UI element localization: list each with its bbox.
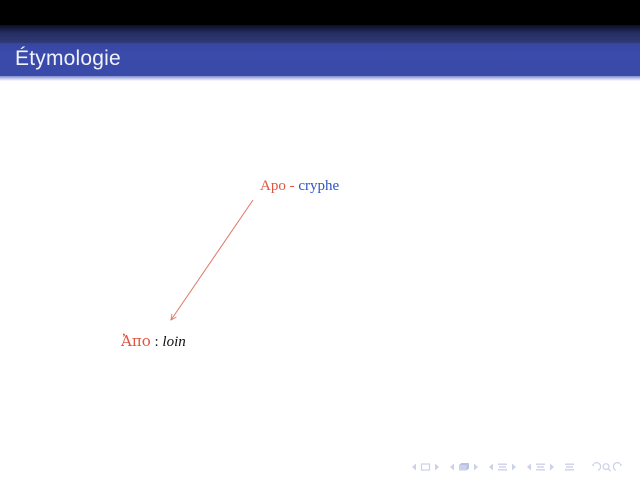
next-section-icon[interactable] — [547, 462, 556, 472]
slide-header-bar: Étymologie — [0, 0, 640, 80]
beamer-navigation-symbols[interactable] — [410, 458, 630, 476]
header-top-black-band — [0, 0, 640, 25]
nav-group-frame[interactable] — [448, 462, 480, 473]
previous-frame-icon[interactable] — [448, 462, 457, 472]
subsection-symbol-icon[interactable] — [496, 462, 509, 473]
next-slide-icon[interactable] — [432, 462, 441, 472]
presentation-symbol-icon[interactable] — [563, 462, 576, 473]
arrow-line — [171, 200, 253, 320]
nav-group-presentation[interactable] — [563, 462, 576, 473]
slide-body: Apo - cryphe Ἀπο : loin — [0, 81, 640, 451]
next-subsection-icon[interactable] — [509, 462, 518, 472]
nav-group-history[interactable] — [589, 462, 625, 473]
word-separator-dash: - — [286, 178, 299, 194]
back-symbol-icon[interactable] — [589, 462, 601, 473]
next-frame-icon[interactable] — [471, 462, 480, 472]
gloss-colon: : — [151, 334, 163, 350]
word-part-cryphe: cryphe — [298, 178, 339, 194]
forward-symbol-icon[interactable] — [613, 462, 625, 473]
slide-symbol-icon[interactable] — [419, 462, 432, 472]
greek-word-apo: Ἀπο — [121, 332, 151, 350]
frame-title: Étymologie — [15, 43, 121, 76]
word-part-apo: Apo — [260, 178, 286, 194]
etymology-arrow — [0, 81, 640, 451]
previous-section-icon[interactable] — [525, 462, 534, 472]
find-symbol-icon[interactable] — [601, 462, 613, 473]
header-dark-blue-band — [0, 25, 640, 43]
compound-word-apocryphe: Apo - cryphe — [260, 178, 339, 195]
presentation-slide: Étymologie Apo - cryphe Ἀπο : loin — [0, 0, 640, 480]
section-symbol-icon[interactable] — [534, 462, 547, 473]
nav-group-slide[interactable] — [410, 462, 441, 472]
nav-group-section[interactable] — [525, 462, 556, 473]
previous-subsection-icon[interactable] — [487, 462, 496, 472]
frame-symbol-icon[interactable] — [457, 462, 471, 473]
greek-root-gloss: Ἀπο : loin — [121, 332, 186, 351]
gloss-french-loin: loin — [162, 334, 185, 350]
previous-slide-icon[interactable] — [410, 462, 419, 472]
nav-group-subsection[interactable] — [487, 462, 518, 473]
